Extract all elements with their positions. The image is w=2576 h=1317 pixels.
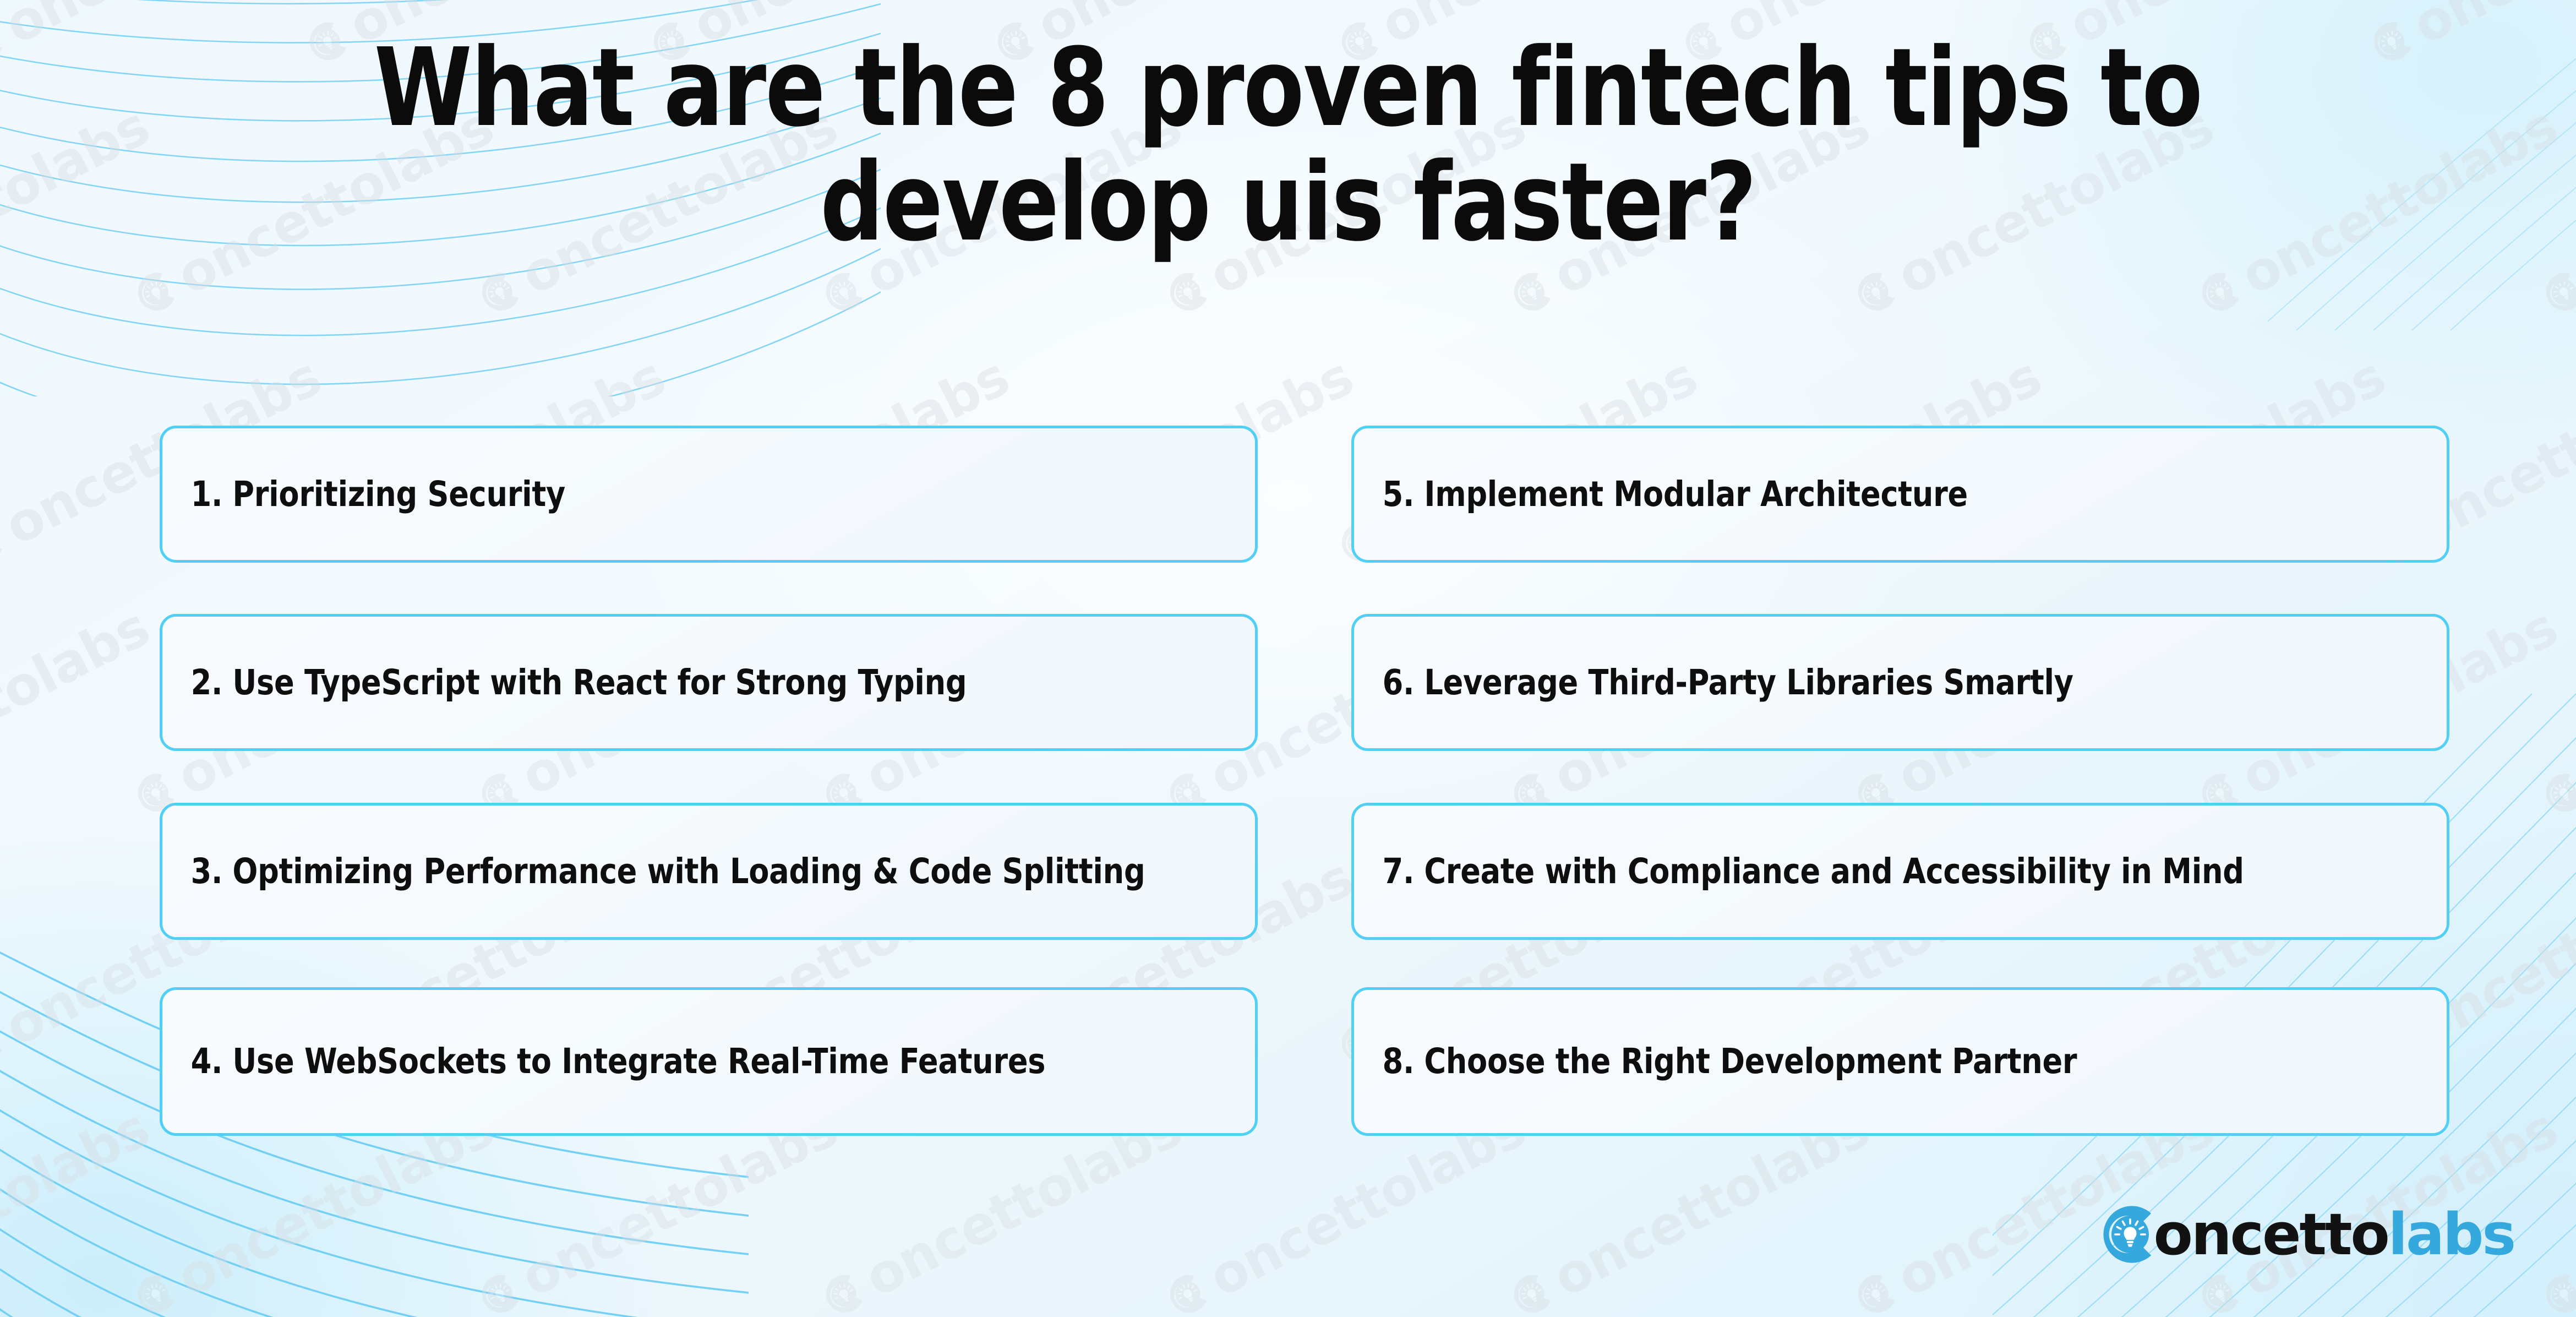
tip-card-2-text: 2. Use TypeScript with React for Strong … (162, 656, 1206, 709)
tip-card-5-text: 5. Implement Modular Architecture (1354, 468, 2398, 521)
tip-card-4-label: Use WebSockets to Integrate Real-Time Fe… (232, 1035, 1177, 1088)
tip-card-1-text: 1. Prioritizing Security (162, 468, 1206, 521)
tip-card-2-number: 2. (191, 656, 233, 709)
tip-card-4-number: 4. (191, 1035, 233, 1088)
tip-card-6[interactable]: 6. Leverage Third-Party Libraries Smartl… (1351, 614, 2449, 751)
tip-card-6-number: 6. (1383, 656, 1425, 709)
concettolabs-logo[interactable]: oncettolabs (2093, 1197, 2514, 1272)
tip-card-2[interactable]: 2. Use TypeScript with React for Strong … (160, 614, 1258, 751)
tips-grid: 1. Prioritizing Security 2. Use TypeScri… (160, 426, 2438, 1125)
tips-column-left: 1. Prioritizing Security 2. Use TypeScri… (160, 426, 1258, 1125)
tip-card-3-text: 3. Optimizing Performance with Loading &… (162, 845, 1206, 898)
logo-wordmark: oncettolabs (2153, 1206, 2514, 1263)
tip-card-7-label: Create with Compliance and Accessibility… (1424, 845, 2369, 898)
tip-card-6-label: Leverage Third-Party Libraries Smartly (1424, 656, 2369, 709)
logo-word-dark: oncetto (2153, 1201, 2388, 1268)
tip-card-6-text: 6. Leverage Third-Party Libraries Smartl… (1354, 656, 2398, 709)
tip-card-7[interactable]: 7. Create with Compliance and Accessibil… (1351, 803, 2449, 940)
tip-card-4[interactable]: 4. Use WebSockets to Integrate Real-Time… (160, 987, 1258, 1136)
logo-word-blue: labs (2388, 1201, 2514, 1268)
tip-card-8-text: 8. Choose the Right Development Partner (1354, 1035, 2398, 1088)
tip-card-5-label: Implement Modular Architecture (1424, 468, 2369, 521)
tips-column-right: 5. Implement Modular Architecture 6. Lev… (1351, 426, 2449, 1125)
tip-card-1[interactable]: 1. Prioritizing Security (160, 426, 1258, 563)
tip-card-3-number: 3. (191, 845, 233, 898)
page-title: What are the 8 proven fintech tips to de… (110, 34, 2466, 257)
tip-card-3[interactable]: 3. Optimizing Performance with Loading &… (160, 803, 1258, 940)
tip-card-5[interactable]: 5. Implement Modular Architecture (1351, 426, 2449, 563)
page-title-line-1: What are the 8 proven fintech tips to (110, 34, 2466, 142)
tip-card-8[interactable]: 8. Choose the Right Development Partner (1351, 987, 2449, 1136)
watermark-mark-icon (2530, 1261, 2576, 1317)
tip-card-7-number: 7. (1383, 845, 1425, 898)
tip-card-3-label: Optimizing Performance with Loading & Co… (232, 845, 1177, 898)
watermark-mark-icon (2530, 760, 2576, 826)
tip-card-1-label: Prioritizing Security (232, 468, 1177, 521)
tip-card-7-text: 7. Create with Compliance and Accessibil… (1354, 845, 2398, 898)
tip-card-4-text: 4. Use WebSockets to Integrate Real-Time… (162, 1035, 1206, 1088)
watermark-mark-icon (2530, 259, 2576, 325)
tip-card-8-label: Choose the Right Development Partner (1424, 1035, 2369, 1088)
tip-card-5-number: 5. (1383, 468, 1425, 521)
page-title-line-2: develop uis faster? (110, 149, 2466, 257)
tip-card-1-number: 1. (191, 468, 233, 521)
tip-card-2-label: Use TypeScript with React for Strong Typ… (232, 656, 1177, 709)
tip-card-8-number: 8. (1383, 1035, 1425, 1088)
